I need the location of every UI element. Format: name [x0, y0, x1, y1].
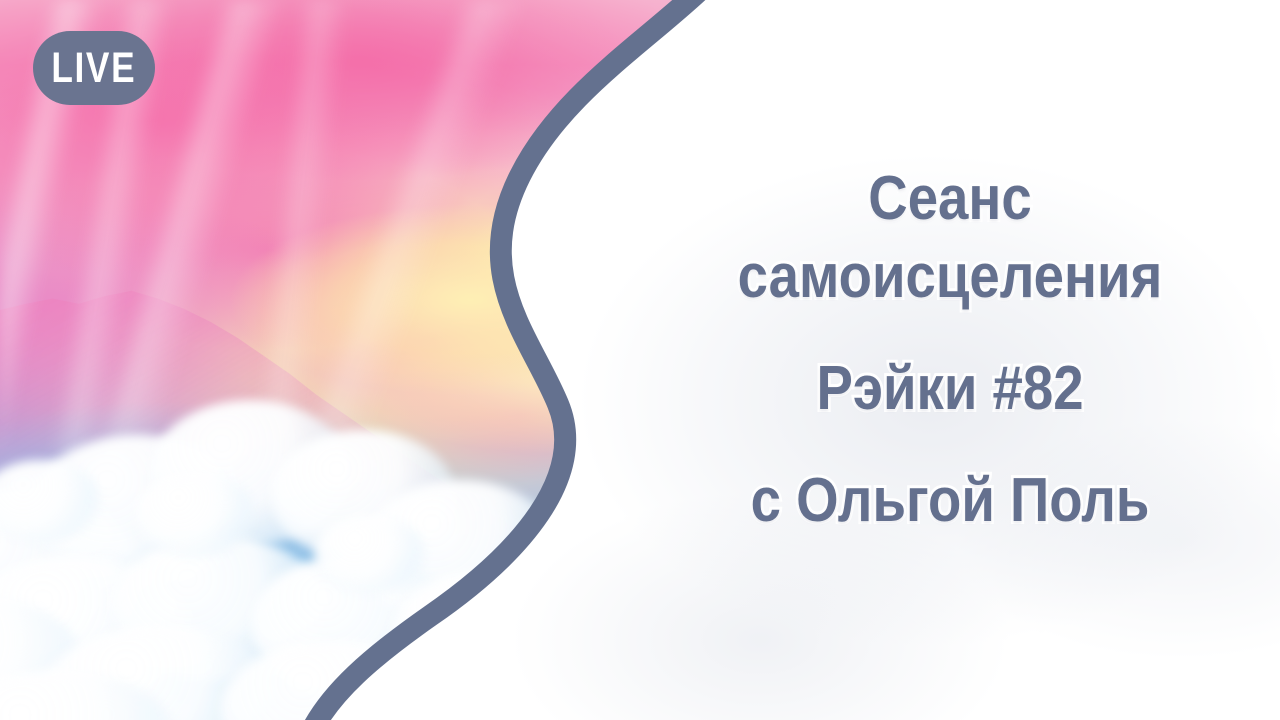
stream-cover: LIVE Сеанс самоисцеления Рэйки #82 с Оль… [0, 0, 1280, 720]
title-line-3: Рэйки #82 [695, 358, 1205, 420]
title-line-4: с Ольгой Поль [695, 470, 1205, 532]
live-badge-label: LIVE [52, 47, 137, 90]
live-badge[interactable]: LIVE [33, 31, 155, 105]
title-line-2: самоисцеления [695, 246, 1205, 308]
stream-title-block: Сеанс самоисцеления Рэйки #82 с Ольгой П… [660, 168, 1240, 532]
title-line-1: Сеанс [695, 168, 1205, 230]
